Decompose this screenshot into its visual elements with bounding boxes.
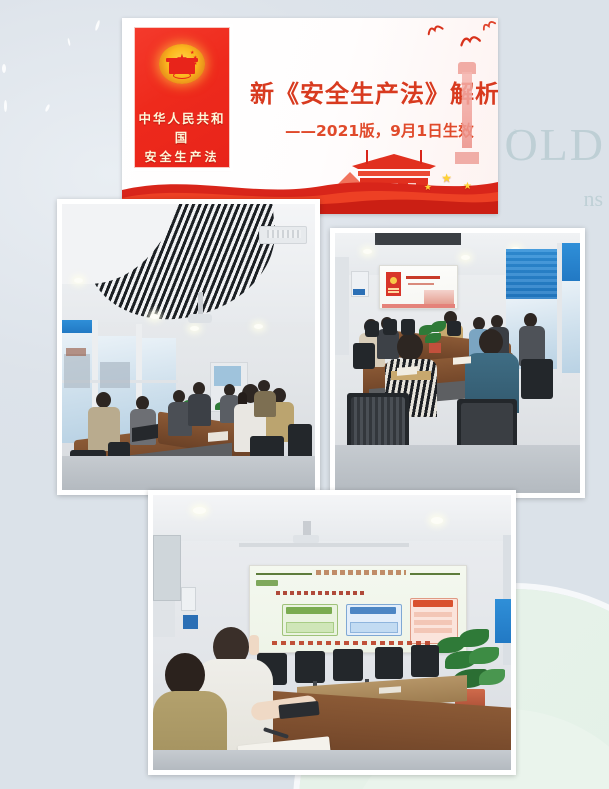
ceiling-panel — [375, 233, 461, 245]
poster-canvas: a OLD ns ★ ★ ★ ★ ★ 中华人民共和国 安全生产法 — [0, 0, 609, 789]
background-speck — [67, 38, 71, 46]
notebook — [208, 431, 228, 442]
background-speck — [94, 20, 100, 31]
background-speck — [44, 104, 50, 113]
law-book-cover: ★ ★ ★ ★ ★ 中华人民共和国 安全生产法 — [134, 27, 230, 168]
national-emblem-icon: ★ ★ ★ ★ ★ — [159, 44, 205, 84]
ribbon-star-icon: ★ — [441, 172, 452, 184]
meeting-room-photo-left — [57, 199, 320, 495]
book-title-line1: 中华人民共和国 — [135, 110, 229, 149]
emblem-gear-shape — [173, 72, 191, 79]
bird-icon — [459, 33, 482, 52]
background-speck — [2, 64, 6, 73]
monument-tower-icon — [454, 56, 480, 168]
watermark-text: OLD — [504, 118, 605, 171]
projector — [188, 314, 212, 323]
meeting-room-photo-bottom — [148, 490, 516, 775]
book-title-line2: 安全生产法 — [144, 148, 219, 167]
projector — [293, 535, 319, 543]
ribbon-star-icon: ★ — [424, 183, 432, 192]
ribbon-star-icon: ★ — [463, 182, 472, 192]
bird-icon — [480, 18, 498, 36]
watermark-subtext: ns — [583, 186, 603, 212]
projected-slide — [379, 265, 458, 309]
screen-rail — [239, 543, 409, 547]
wall-sign — [183, 615, 198, 629]
background-speck — [4, 100, 7, 112]
bird-icon — [425, 22, 445, 41]
wall-device — [181, 587, 196, 611]
meeting-room-photo-right — [330, 228, 585, 498]
header-banner-slide: ★ ★ ★ ★ ★ 中华人民共和国 安全生产法 新《安全生产法》解析 ——202… — [122, 18, 498, 214]
